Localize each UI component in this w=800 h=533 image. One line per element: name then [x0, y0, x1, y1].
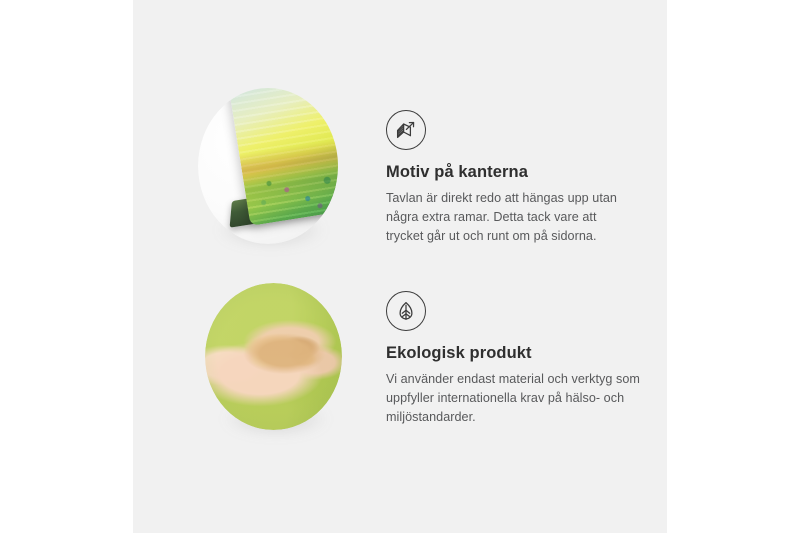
canvas-artwork-clip	[198, 88, 338, 244]
feature-title: Motiv på kanterna	[386, 163, 656, 182]
feature-text-column: Ekologisk produkt Vi använder endast mat…	[386, 291, 666, 427]
canvas-print-corner-photo	[198, 88, 338, 244]
product-feature-banner: Motiv på kanterna Tavlan är direkt redo …	[0, 0, 800, 533]
feature-title: Ekologisk produkt	[386, 344, 666, 363]
eco-photo-image	[205, 283, 342, 430]
content-panel	[133, 0, 667, 533]
leaf-icon	[386, 291, 426, 331]
feature-description: Vi använder endast material och verktyg …	[386, 370, 666, 427]
canvas-wrapped-edge-icon	[386, 110, 426, 150]
feature-text-column: Motiv på kanterna Tavlan är direkt redo …	[386, 110, 656, 246]
hands-holding-wood-chips-photo	[205, 283, 342, 430]
feature-description: Tavlan är direkt redo att hängas upp uta…	[386, 189, 656, 246]
